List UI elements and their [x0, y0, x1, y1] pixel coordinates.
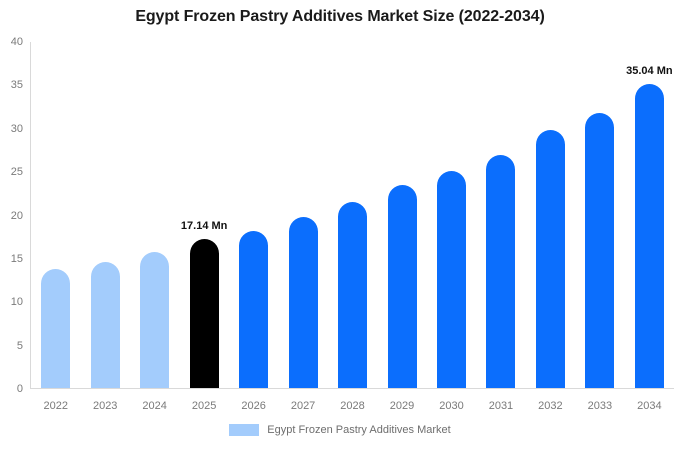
y-axis-tick-20: 20 — [11, 210, 23, 222]
y-axis-tick-25: 25 — [11, 166, 23, 178]
bar-2023[interactable] — [91, 262, 120, 388]
x-axis-tick-2024: 2024 — [130, 391, 179, 412]
bar-2033[interactable] — [585, 113, 614, 388]
bar-2027[interactable] — [289, 217, 318, 388]
chart-legend: Egypt Frozen Pastry Additives Market — [0, 424, 680, 436]
x-axis-tick-2026: 2026 — [229, 391, 278, 412]
x-axis-tick-2034: 2034 — [625, 391, 674, 412]
y-axis-tick-15: 15 — [11, 253, 23, 265]
x-axis-tick-2031: 2031 — [476, 391, 525, 412]
x-axis-tick-2033: 2033 — [575, 391, 624, 412]
bar-slot-2022 — [31, 42, 80, 388]
x-axis-tick-2030: 2030 — [427, 391, 476, 412]
x-axis-tick-2027: 2027 — [278, 391, 327, 412]
plot-area: 0510152025303540 17.14 Mn35.04 Mn — [30, 42, 674, 389]
bar-2032[interactable] — [536, 130, 565, 388]
legend-color-swatch — [229, 424, 259, 436]
bar-2025[interactable]: 17.14 Mn — [190, 239, 219, 388]
chart-title: Egypt Frozen Pastry Additives Market Siz… — [0, 8, 680, 26]
bar-slot-2025: 17.14 Mn — [179, 42, 228, 388]
x-axis-tick-2029: 2029 — [377, 391, 426, 412]
x-axis-tick-2028: 2028 — [328, 391, 377, 412]
bar-2030[interactable] — [437, 171, 466, 388]
bar-slot-2030 — [427, 42, 476, 388]
x-axis-tick-2022: 2022 — [31, 391, 80, 412]
y-axis-tick-10: 10 — [11, 296, 23, 308]
y-axis-tick-5: 5 — [17, 340, 23, 352]
y-axis-tick-30: 30 — [11, 123, 23, 135]
bar-slot-2029 — [377, 42, 426, 388]
bar-2024[interactable] — [140, 252, 169, 388]
bar-slot-2034: 35.04 Mn — [625, 42, 674, 388]
x-axis-tick-2025: 2025 — [179, 391, 228, 412]
y-axis-tick-0: 0 — [17, 383, 23, 395]
bar-2029[interactable] — [388, 185, 417, 388]
y-axis-tick-40: 40 — [11, 36, 23, 48]
bar-2028[interactable] — [338, 202, 367, 388]
y-axis-tick-35: 35 — [11, 79, 23, 91]
bar-2022[interactable] — [41, 269, 70, 388]
bar-value-label-2034: 35.04 Mn — [626, 65, 672, 77]
x-axis-tick-2032: 2032 — [526, 391, 575, 412]
bar-2026[interactable] — [239, 231, 268, 388]
bar-slot-2031 — [476, 42, 525, 388]
bar-slot-2023 — [80, 42, 129, 388]
bars-layer: 17.14 Mn35.04 Mn — [31, 42, 674, 388]
bar-chart: Egypt Frozen Pastry Additives Market Siz… — [0, 0, 680, 450]
bar-slot-2026 — [229, 42, 278, 388]
x-axis-tick-labels: 2022202320242025202620272028202920302031… — [31, 391, 674, 412]
bar-slot-2027 — [278, 42, 327, 388]
bar-slot-2032 — [526, 42, 575, 388]
bar-slot-2028 — [328, 42, 377, 388]
legend-label: Egypt Frozen Pastry Additives Market — [267, 424, 450, 436]
x-axis-tick-2023: 2023 — [80, 391, 129, 412]
bar-value-label-2025: 17.14 Mn — [181, 220, 227, 232]
x-axis-line — [30, 388, 674, 389]
legend-item-egypt-frozen-pastry-additives-market[interactable]: Egypt Frozen Pastry Additives Market — [229, 424, 450, 436]
bar-2031[interactable] — [486, 155, 515, 388]
bar-slot-2024 — [130, 42, 179, 388]
bar-slot-2033 — [575, 42, 624, 388]
bar-2034[interactable]: 35.04 Mn — [635, 84, 664, 388]
